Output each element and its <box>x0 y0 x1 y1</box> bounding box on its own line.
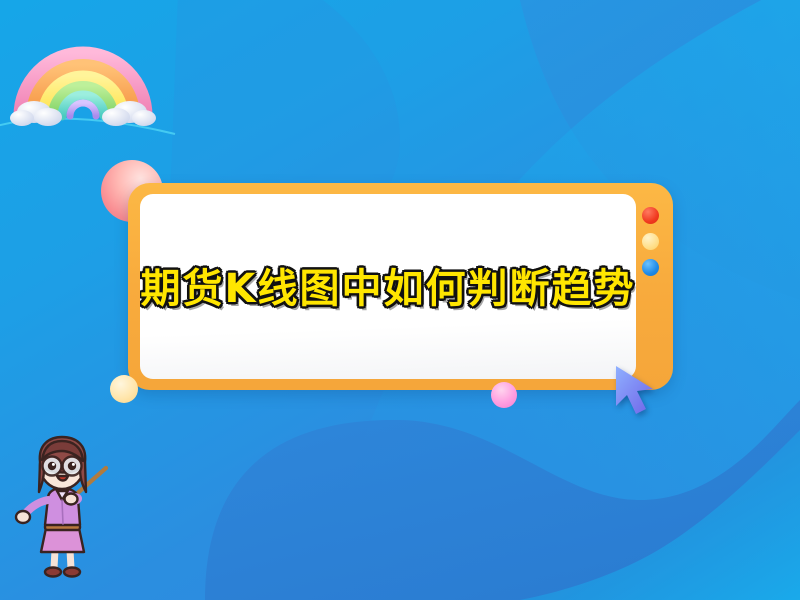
window-screen: 期货K线图中如何判断趋势 <box>140 194 636 379</box>
close-button[interactable] <box>642 207 659 224</box>
window-frame: 期货K线图中如何判断趋势 <box>128 183 673 390</box>
mouse-cursor-icon <box>612 362 666 420</box>
page-title: 期货K线图中如何判断趋势 <box>141 266 636 312</box>
maximize-button[interactable] <box>642 259 659 276</box>
teacher-character-icon <box>10 432 160 592</box>
rainbow-icon <box>8 28 158 128</box>
minimize-button[interactable] <box>642 233 659 250</box>
window-controls <box>642 207 659 276</box>
decor-circle-cream-bottom-left <box>110 375 138 403</box>
decor-circle-pink-bottom-center <box>491 382 517 408</box>
poster-canvas: 期货K线图中如何判断趋势 <box>0 0 800 600</box>
